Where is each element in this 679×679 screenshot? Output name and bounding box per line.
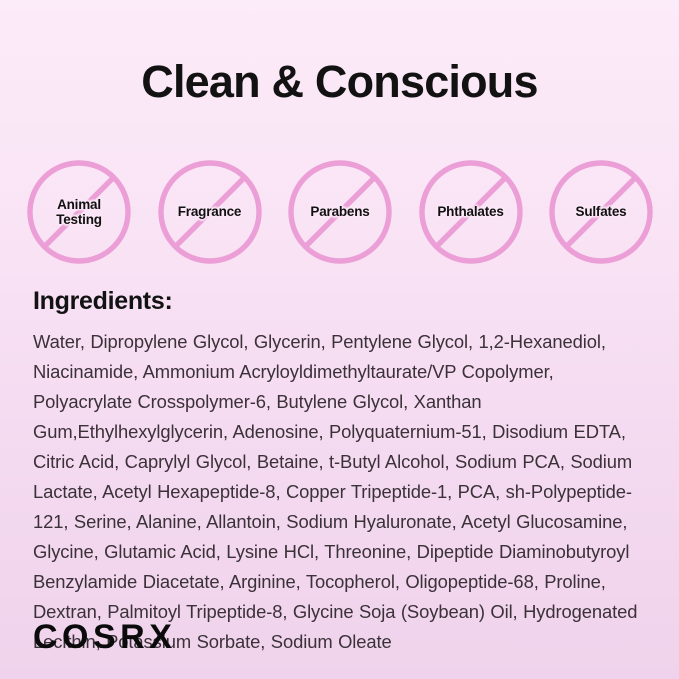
badge-phthalates: Phthalates bbox=[418, 159, 524, 265]
badge-label-line: Testing bbox=[56, 212, 102, 227]
badge-label-line: Sulfates bbox=[576, 204, 627, 219]
page-title: Clean & Conscious bbox=[0, 58, 679, 105]
badge-label-line: Parabens bbox=[310, 204, 369, 219]
badge-fragrance: Fragrance bbox=[157, 159, 263, 265]
badge-label: Fragrance bbox=[178, 204, 241, 219]
badge-label: Sulfates bbox=[576, 204, 627, 219]
badge-label: Phthalates bbox=[437, 204, 503, 219]
free-from-badge-row: Animal Testing Fragrance bbox=[26, 158, 654, 266]
badge-label: Animal Testing bbox=[56, 197, 102, 227]
badge-label-line: Phthalates bbox=[437, 204, 503, 219]
badge-animal-testing: Animal Testing bbox=[26, 159, 132, 265]
badge-label: Parabens bbox=[310, 204, 369, 219]
product-info-card: Clean & Conscious Animal Testing bbox=[0, 0, 679, 679]
badge-sulfates: Sulfates bbox=[548, 159, 654, 265]
ingredients-heading: Ingredients: bbox=[33, 287, 172, 316]
badge-parabens: Parabens bbox=[287, 159, 393, 265]
badge-label-line: Fragrance bbox=[178, 204, 241, 219]
brand-logo: COSRX bbox=[33, 620, 176, 654]
ingredients-list: Water, Dipropylene Glycol, Glycerin, Pen… bbox=[33, 327, 647, 657]
badge-label-line: Animal bbox=[56, 197, 102, 212]
